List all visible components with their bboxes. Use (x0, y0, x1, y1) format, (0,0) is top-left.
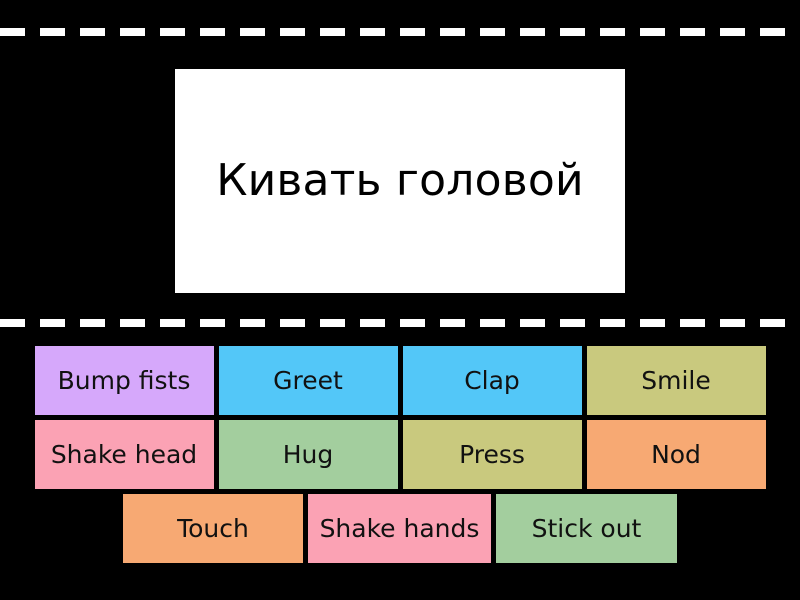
prompt-card: Кивать головой (175, 69, 625, 293)
dashed-rule-top (0, 28, 800, 36)
answer-tile-greet[interactable]: Greet (219, 346, 398, 415)
flashcard-stage: Кивать головой Bump fists Greet Clap Smi… (0, 0, 800, 600)
tile-row: Bump fists Greet Clap Smile (0, 346, 800, 415)
answer-tile-smile[interactable]: Smile (587, 346, 766, 415)
prompt-text: Кивать головой (216, 157, 584, 205)
answer-tile-press[interactable]: Press (403, 420, 582, 489)
answer-tile-hug[interactable]: Hug (219, 420, 398, 489)
answer-tile-clap[interactable]: Clap (403, 346, 582, 415)
answer-tile-shake-hands[interactable]: Shake hands (308, 494, 491, 563)
answer-tile-bump-fists[interactable]: Bump fists (35, 346, 214, 415)
answer-tile-nod[interactable]: Nod (587, 420, 766, 489)
answer-tile-stick-out[interactable]: Stick out (496, 494, 677, 563)
answer-tile-shake-head[interactable]: Shake head (35, 420, 214, 489)
tile-row: Shake head Hug Press Nod (0, 420, 800, 489)
answer-tile-board: Bump fists Greet Clap Smile Shake head H… (0, 346, 800, 586)
tile-row: Touch Shake hands Stick out (0, 494, 800, 563)
dashed-rule-bottom (0, 319, 800, 327)
answer-tile-touch[interactable]: Touch (123, 494, 303, 563)
